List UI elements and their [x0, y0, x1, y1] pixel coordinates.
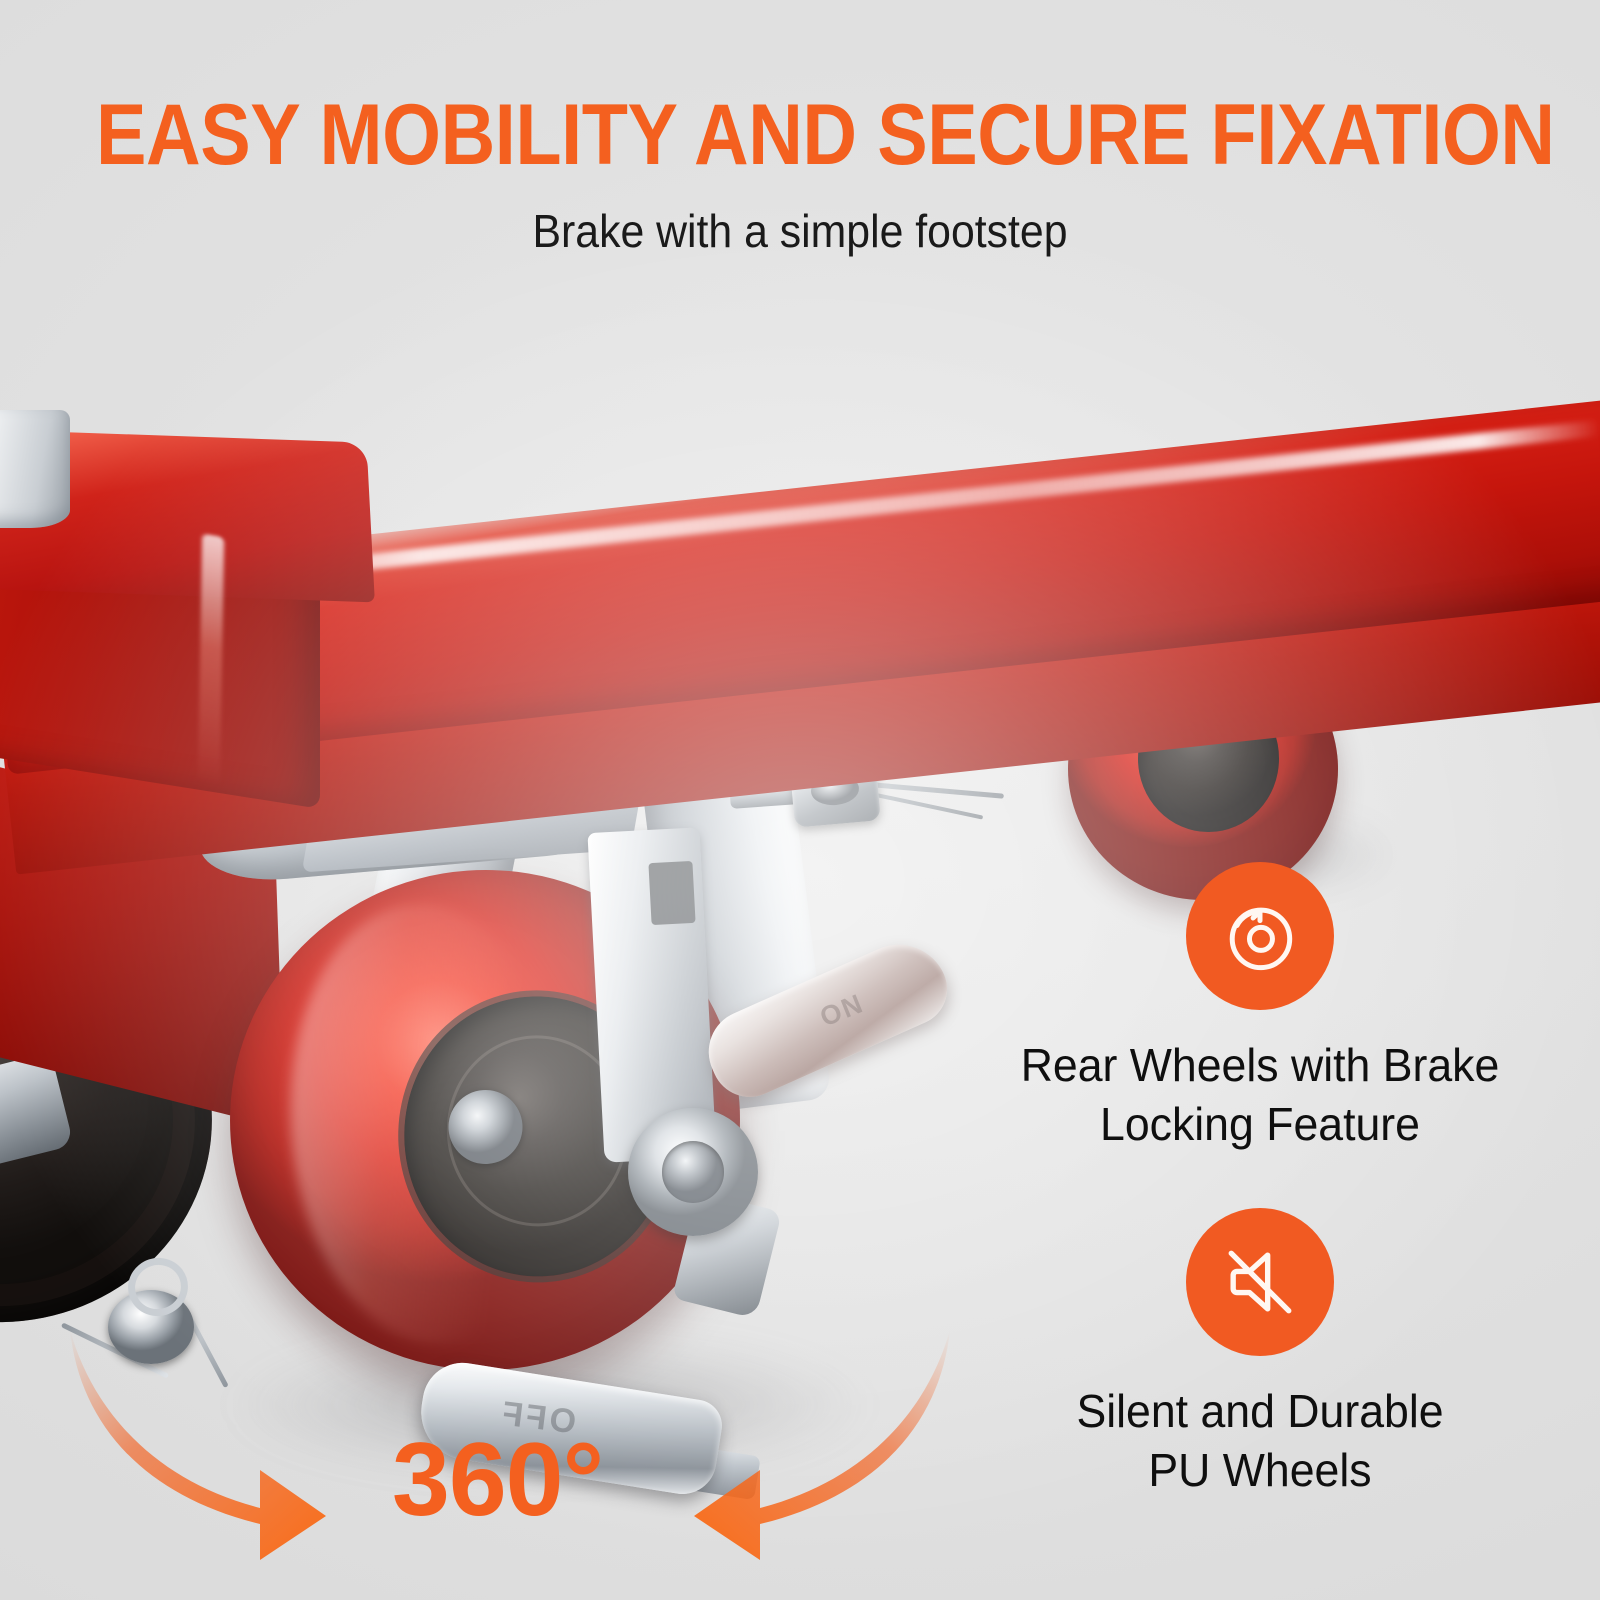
feature-label-line1: Rear Wheels with Brake	[969, 1036, 1551, 1095]
product-feature-banner: ON OFF	[0, 0, 1600, 1600]
feature-label-line2: Locking Feature	[969, 1095, 1551, 1154]
page-title: EASY MOBILITY AND SECURE FIXATION	[96, 92, 1504, 178]
brake-lever-on-label: ON	[816, 988, 869, 1033]
frame-head-edge-highlight	[198, 533, 224, 786]
swivel-degree-label: 360°	[392, 1428, 603, 1532]
feature-silent-pu-wheels: Silent and Durable PU Wheels	[960, 1208, 1560, 1500]
feature-rear-wheel-brake: Rear Wheels with Brake Locking Feature	[960, 862, 1560, 1154]
brake-notch-slot	[648, 861, 695, 925]
feature-label-line2: PU Wheels	[969, 1441, 1551, 1500]
brake-pivot-bolt	[628, 1108, 758, 1236]
brake-disc-icon	[1186, 862, 1334, 1010]
feature-label: Rear Wheels with Brake Locking Feature	[969, 1036, 1551, 1154]
chrome-post	[0, 410, 70, 528]
speaker-muted-icon	[1186, 1208, 1334, 1356]
feature-label: Silent and Durable PU Wheels	[969, 1382, 1551, 1500]
page-subtitle: Brake with a simple footstep	[56, 206, 1544, 257]
feature-label-line1: Silent and Durable	[969, 1382, 1551, 1441]
cotter-pin-wire	[873, 792, 983, 819]
